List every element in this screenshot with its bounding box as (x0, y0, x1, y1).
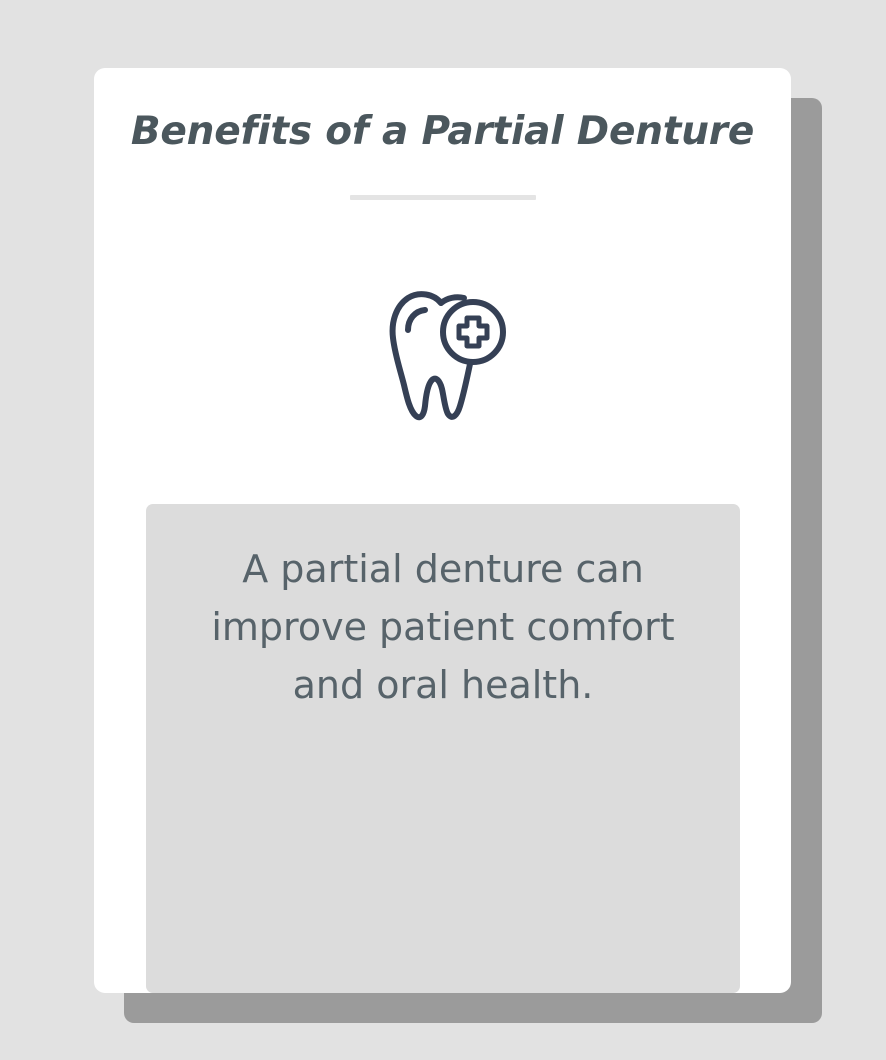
page-title: Benefits of a Partial Denture (94, 106, 791, 158)
tooth-with-medical-cross-icon (378, 285, 508, 425)
slide-canvas: Benefits of a Partial Denture (0, 0, 886, 1060)
title-divider (350, 195, 536, 200)
body-text-panel: A partial denture can improve patient co… (146, 504, 740, 993)
icon-container (94, 275, 791, 435)
body-text: A partial denture can improve patient co… (172, 540, 714, 714)
content-card: Benefits of a Partial Denture (94, 68, 791, 993)
